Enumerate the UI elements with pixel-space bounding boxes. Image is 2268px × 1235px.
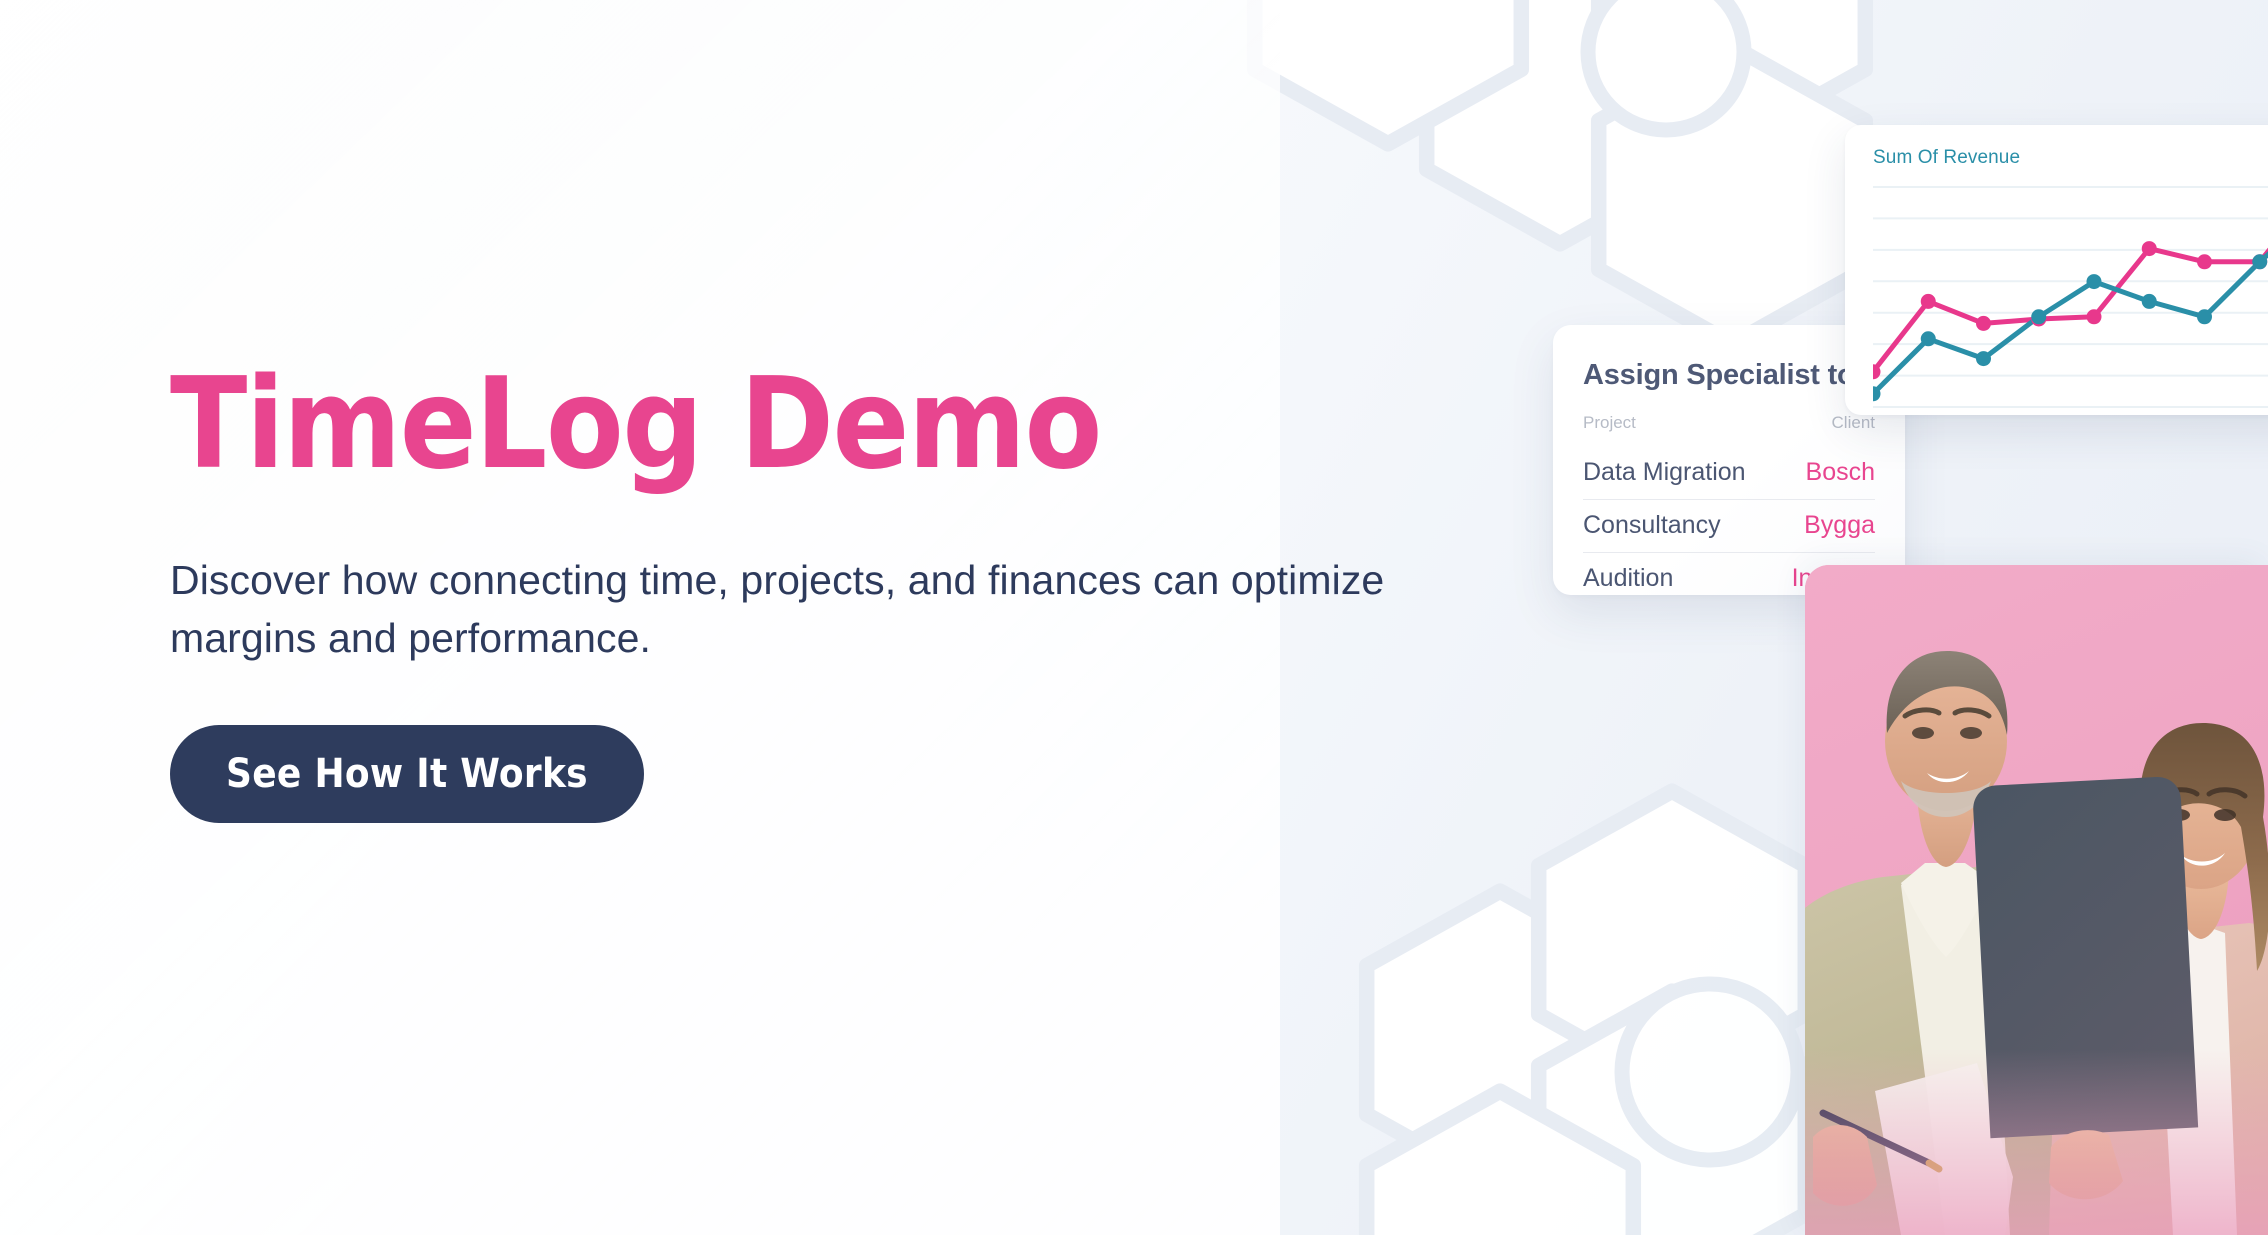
page-root: TimeLog Demo Discover how connecting tim…: [0, 0, 2268, 1235]
client-name: Bosch: [1806, 458, 1875, 487]
chart-point: [1921, 331, 1936, 346]
table-row[interactable]: Consultancy Bygga: [1583, 500, 1875, 553]
page-title: TimeLog Demo: [170, 360, 1500, 489]
chart-point: [2252, 254, 2267, 269]
column-header-project: Project: [1583, 413, 1636, 433]
hero-subtitle: Discover how connecting time, projects, …: [170, 551, 1460, 667]
chart-point: [2142, 241, 2157, 256]
client-name: Bygga: [1804, 511, 1875, 540]
project-name: Consultancy: [1583, 511, 1721, 540]
column-header-client: Client: [1832, 413, 1875, 433]
chart-point: [2087, 274, 2102, 289]
revenue-chart-card: Sum Of Revenue: [1845, 125, 2268, 415]
chart-point: [2087, 309, 2102, 324]
chart-point: [2197, 254, 2212, 269]
chart-title: Sum Of Revenue: [1873, 147, 2268, 169]
chart-point: [2197, 309, 2212, 324]
hero-section: TimeLog Demo Discover how connecting tim…: [170, 360, 1500, 823]
chart-point: [2031, 309, 2046, 324]
chart-point: [1921, 294, 1936, 309]
project-name: Data Migration: [1583, 458, 1746, 487]
project-name: Audition: [1583, 564, 1673, 593]
chart-point: [2142, 294, 2157, 309]
table-row[interactable]: Data Migration Bosch: [1583, 447, 1875, 500]
projects-table-header: Project Client: [1583, 413, 1875, 433]
chart-point: [1976, 351, 1991, 366]
team-photo-card: [1805, 565, 2268, 1235]
chart-point: [1976, 316, 1991, 331]
see-how-it-works-button[interactable]: See How It Works: [170, 725, 644, 823]
assign-specialist-title: Assign Specialist to: [1583, 359, 1875, 392]
revenue-line-chart: [1873, 183, 2268, 411]
